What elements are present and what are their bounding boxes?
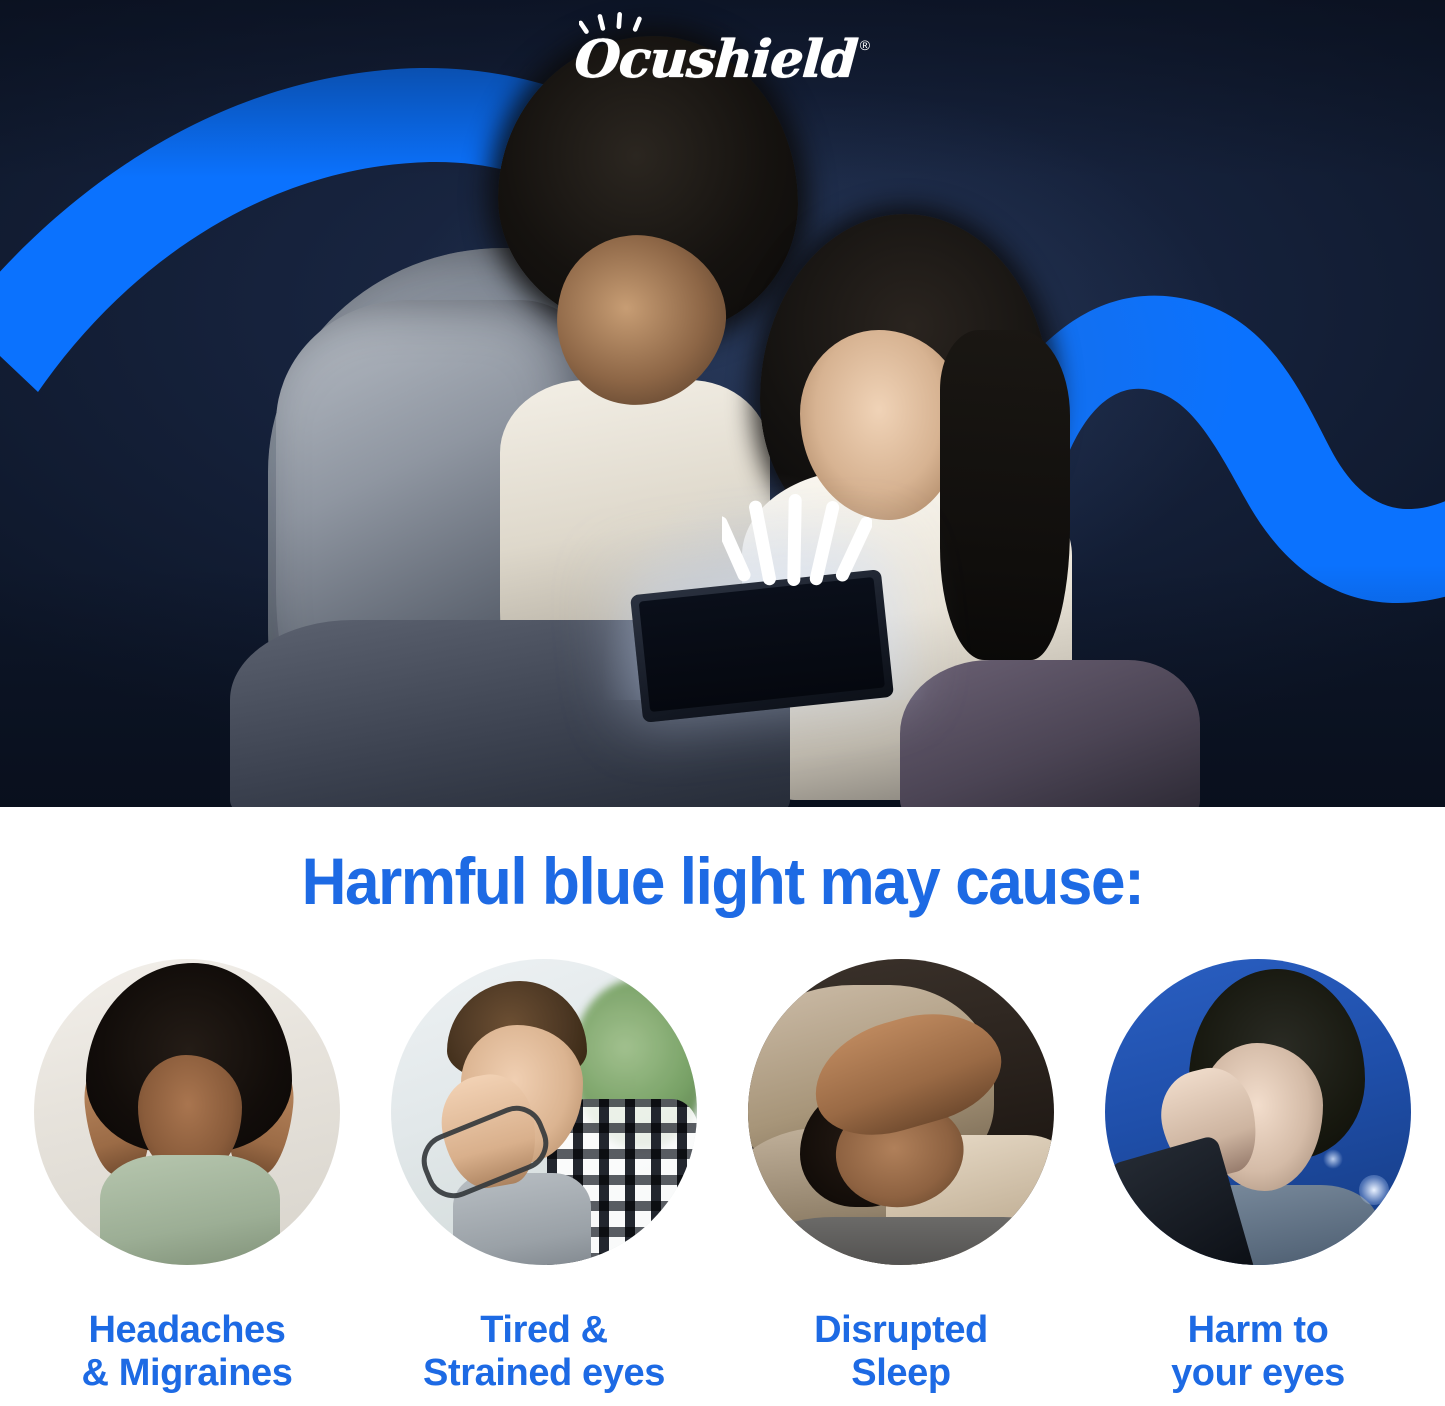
- hero-photo: [0, 0, 1445, 807]
- effect-card-headaches: Headaches & Migraines: [22, 959, 352, 1394]
- brand-logo: Ocushield ®: [0, 34, 1445, 86]
- woman-with-phone-at-night-photo: [1105, 959, 1411, 1265]
- bokeh-light: [1359, 1175, 1389, 1205]
- infographic-page: Ocushield ® Harmful blue light may cause…: [0, 0, 1445, 1406]
- effect-label: Harm to your eyes: [1171, 1309, 1345, 1394]
- woman-awake-in-bed-photo: [748, 959, 1054, 1265]
- tablet-screen: [639, 577, 885, 712]
- effect-label: Disrupted Sleep: [814, 1309, 988, 1394]
- man-rubbing-eyes-photo: [391, 959, 697, 1265]
- bed-sheet: [748, 1217, 1054, 1265]
- effect-label: Tired & Strained eyes: [423, 1309, 665, 1394]
- effects-section: Harmful blue light may cause: Headaches …: [0, 807, 1445, 1406]
- effects-card-list: Headaches & Migraines Tired & Strained e…: [0, 959, 1445, 1394]
- blanket: [900, 660, 1200, 807]
- effect-label: Headaches & Migraines: [82, 1309, 293, 1394]
- logo-wordmark: Ocushield: [573, 34, 858, 86]
- girl-hair-side: [940, 330, 1070, 660]
- bokeh-light-small: [1323, 1149, 1343, 1169]
- woman-with-headache-photo: [34, 959, 340, 1265]
- hero-section: Ocushield ®: [0, 0, 1445, 807]
- green-top: [100, 1155, 280, 1265]
- effect-card-disrupted-sleep: Disrupted Sleep: [736, 959, 1066, 1394]
- effect-card-eye-harm: Harm to your eyes: [1093, 959, 1423, 1394]
- effect-card-tired-eyes: Tired & Strained eyes: [379, 959, 709, 1394]
- page-title: Harmful blue light may cause:: [43, 843, 1401, 919]
- registered-trademark-symbol: ®: [860, 38, 870, 52]
- light-rays-icon: [722, 486, 872, 596]
